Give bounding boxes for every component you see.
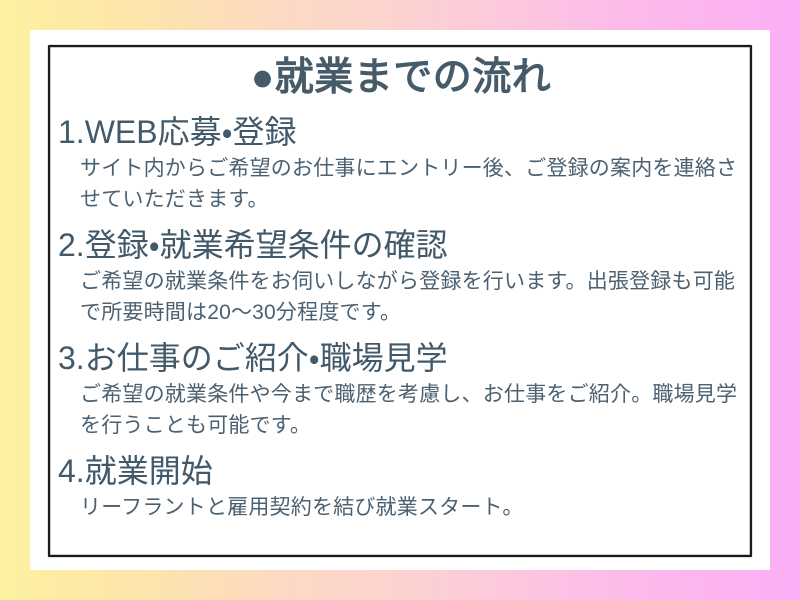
slide-content: ●就業までの流れ 1.WEB応募・登録 サイト内からご希望のお仕事にエントリー後… [58, 54, 744, 550]
step-heading-3: 3.お仕事のご紹介・職場見学 [58, 338, 744, 378]
step-body-2: ご希望の就業条件をお伺いしながら登録を行います。出張登録も可能で所要時間は20〜… [58, 265, 744, 328]
step-item-4: 4.就業開始 リーフラントと雇用契約を結び就業スタート。 [58, 451, 744, 523]
slide-canvas: ●就業までの流れ 1.WEB応募・登録 サイト内からご希望のお仕事にエントリー後… [0, 0, 800, 600]
step-item-3: 3.お仕事のご紹介・職場見学 ご希望の就業条件や今まで職歴を考慮し、お仕事をご紹… [58, 338, 744, 441]
step-item-2: 2.登録・就業希望条件の確認 ご希望の就業条件をお伺いしながら登録を行います。出… [58, 225, 744, 328]
step-item-1: 1.WEB応募・登録 サイト内からご希望のお仕事にエントリー後、ご登録の案内を連… [58, 112, 744, 215]
step-body-1: サイト内からご希望のお仕事にエントリー後、ご登録の案内を連絡させていただきます。 [58, 152, 744, 215]
step-heading-1: 1.WEB応募・登録 [58, 112, 744, 152]
step-body-3: ご希望の就業条件や今まで職歴を考慮し、お仕事をご紹介。職場見学を行うことも可能で… [58, 378, 744, 441]
step-heading-2: 2.登録・就業希望条件の確認 [58, 225, 744, 265]
step-body-4: リーフラントと雇用契約を結び就業スタート。 [58, 491, 744, 523]
page-title: ●就業までの流れ [58, 54, 744, 106]
step-heading-4: 4.就業開始 [58, 451, 744, 491]
white-card-panel: ●就業までの流れ 1.WEB応募・登録 サイト内からご希望のお仕事にエントリー後… [30, 30, 770, 570]
